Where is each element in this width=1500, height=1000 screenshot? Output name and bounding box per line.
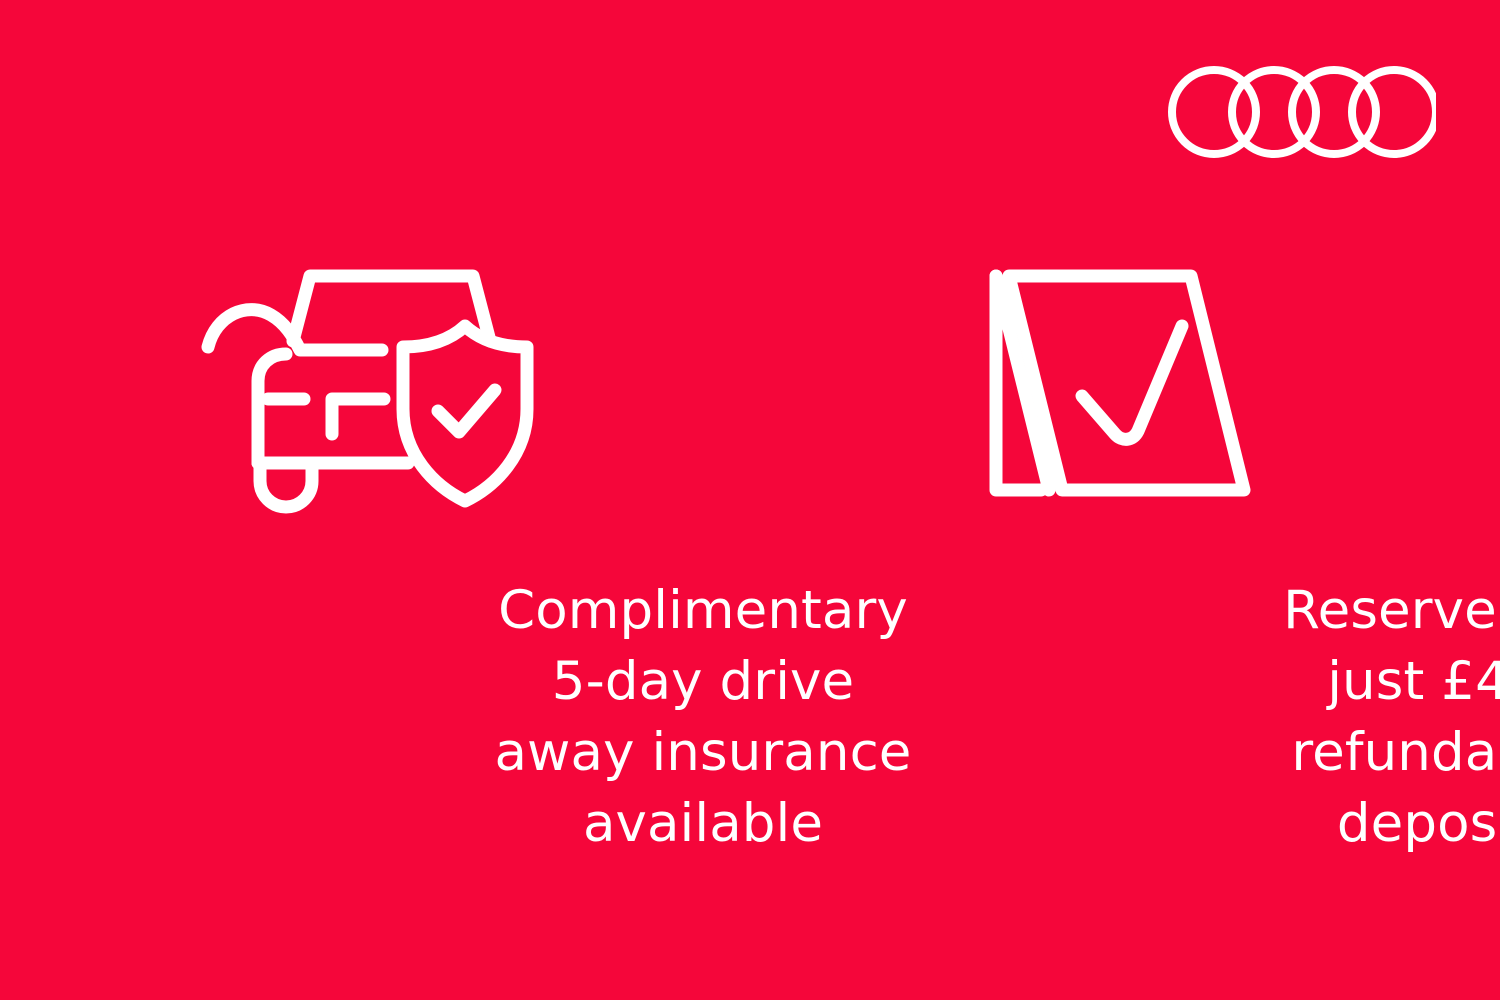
- feature-caption-deposit: Reserve for just £49 refundable deposit: [1125, 575, 1500, 859]
- car-with-shield-icon: [200, 258, 540, 508]
- promo-poster: Complimentary 5-day drive away insurance…: [0, 0, 1500, 1000]
- tent-card-check-icon: [946, 258, 1286, 508]
- feature-item-insurance: Complimentary 5-day drive away insurance…: [0, 0, 750, 1000]
- feature-list: Complimentary 5-day drive away insurance…: [0, 0, 1500, 1000]
- feature-item-deposit: Reserve for just £49 refundable deposit: [750, 0, 1500, 1000]
